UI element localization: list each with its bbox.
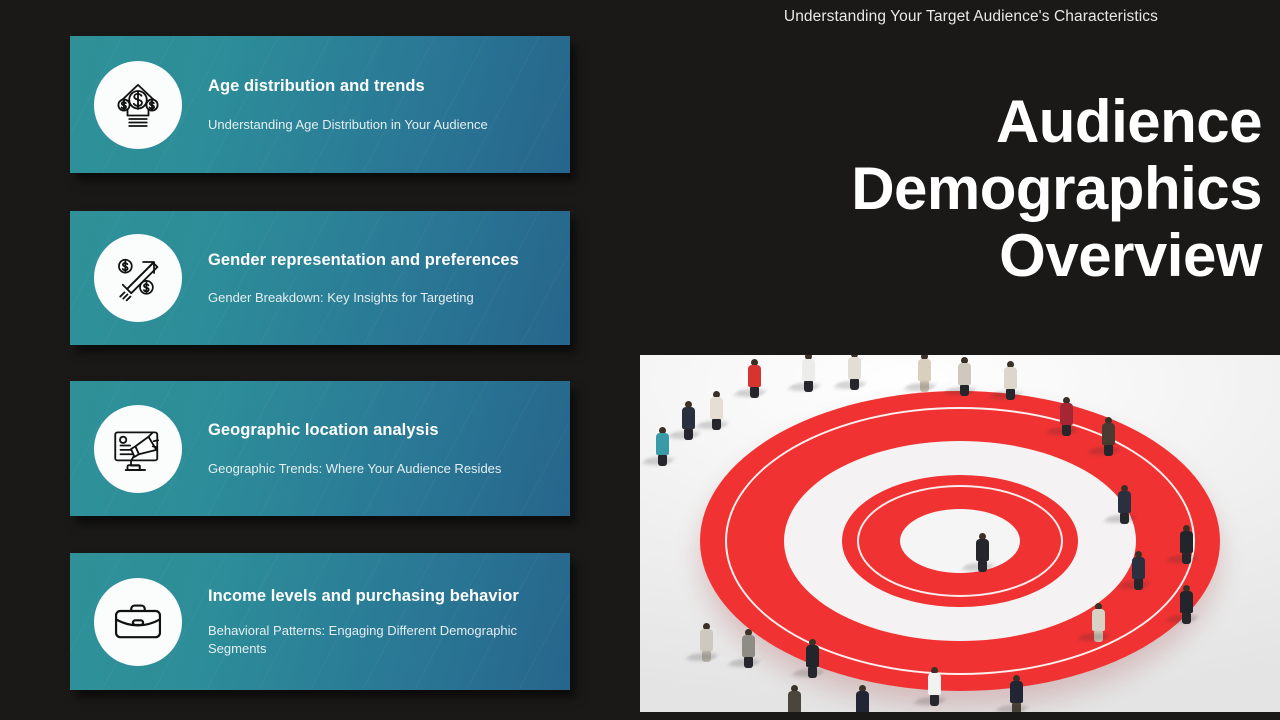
feature-card-subtitle: Understanding Age Distribution in Your A…	[208, 116, 552, 134]
figure	[682, 401, 695, 440]
bullseye-target-graphic	[700, 391, 1220, 691]
figure	[1010, 675, 1023, 712]
slide-eyebrow-text: Understanding Your Target Audience's Cha…	[784, 8, 1158, 26]
figure	[918, 355, 931, 392]
figure	[802, 355, 815, 392]
feature-card-subtitle: Geographic Trends: Where Your Audience R…	[208, 460, 552, 478]
page-title-line-1: Audience	[620, 88, 1262, 155]
figure	[748, 359, 761, 398]
feature-card-gender-representation[interactable]: Gender representation and preferences Ge…	[70, 211, 570, 345]
figure	[1132, 551, 1145, 590]
feature-card-income-levels[interactable]: Income levels and purchasing behavior Be…	[70, 553, 570, 690]
figure	[656, 427, 669, 466]
feature-card-title: Income levels and purchasing behavior	[208, 585, 552, 608]
figure	[1180, 585, 1193, 624]
figure-center	[976, 533, 989, 572]
feature-card-text: Gender representation and preferences Ge…	[208, 249, 552, 307]
feature-card-subtitle: Gender Breakdown: Key Insights for Targe…	[208, 289, 552, 307]
page-title-line-2: Demographics	[620, 155, 1262, 222]
figure	[1060, 397, 1073, 436]
figure	[1102, 417, 1115, 456]
dollar-arrow-up-icon	[94, 234, 182, 322]
audience-target-photo	[640, 355, 1280, 712]
feature-card-title: Geographic location analysis	[208, 419, 552, 442]
figure	[1180, 525, 1193, 564]
figure	[1118, 485, 1131, 524]
figure	[806, 639, 819, 678]
page-title-line-3: Overview	[620, 222, 1262, 289]
figure	[856, 685, 869, 712]
house-dollar-growth-icon	[94, 61, 182, 149]
feature-card-title: Gender representation and preferences	[208, 249, 552, 272]
briefcase-icon	[94, 578, 182, 666]
feature-card-subtitle: Behavioral Patterns: Engaging Different …	[208, 622, 552, 658]
slide-canvas: Age distribution and trends Understandin…	[0, 0, 1280, 720]
feature-card-text: Income levels and purchasing behavior Be…	[208, 585, 552, 658]
feature-card-geographic-location[interactable]: Geographic location analysis Geographic …	[70, 381, 570, 516]
figure	[848, 355, 861, 390]
feature-card-title: Age distribution and trends	[208, 75, 552, 98]
figure	[958, 357, 971, 396]
feature-card-text: Age distribution and trends Understandin…	[208, 75, 552, 134]
figure	[742, 629, 755, 668]
figure	[1092, 603, 1105, 642]
figure	[700, 623, 713, 662]
figure	[788, 685, 801, 712]
figure	[710, 391, 723, 430]
page-title: Audience Demographics Overview	[620, 88, 1280, 290]
figure	[1004, 361, 1017, 400]
target-bullseye-center	[900, 509, 1020, 573]
monitor-megaphone-icon	[94, 405, 182, 493]
feature-card-text: Geographic location analysis Geographic …	[208, 419, 552, 478]
feature-card-list: Age distribution and trends Understandin…	[70, 0, 580, 720]
figure	[928, 667, 941, 706]
right-column: Understanding Your Target Audience's Cha…	[640, 0, 1280, 720]
feature-card-age-distribution[interactable]: Age distribution and trends Understandin…	[70, 36, 570, 173]
